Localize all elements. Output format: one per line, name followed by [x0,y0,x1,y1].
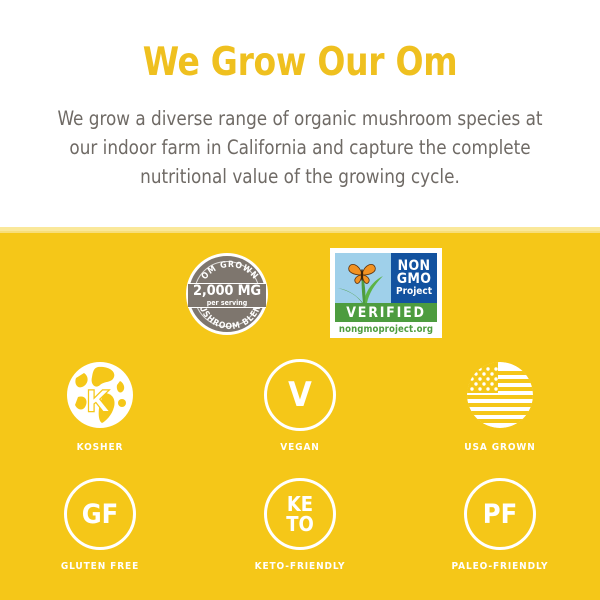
product-benefits-panel: We Grow Our Om We grow a diverse range o… [0,0,600,600]
benefit-label: USA GROWN [464,442,535,453]
butterfly-grass-panel [335,253,391,303]
seal-amount: 2,000 MG [193,284,261,298]
benefit-paleo: PF PALEO-FRIENDLY [400,478,600,572]
benefit-vegan: V VEGAN [200,359,400,453]
paleo-mark: PF [483,501,517,528]
benefit-label: GLUTEN FREE [61,561,139,572]
intro-section: We Grow Our Om We grow a diverse range o… [0,0,600,227]
non-gmo-wordmark: NON GMO Project [391,253,437,303]
non-gmo-verified-badge: NON GMO Project VERIFIED nongmoproject.o… [330,248,442,338]
benefit-row-2: GF GLUTEN FREE KE TO KETO-FRIENDLY [0,478,600,572]
benefit-icon-grid: K KOSHER V VEGAN [0,359,600,572]
non-gmo-line3: Project [396,286,432,297]
svg-text:K: K [87,385,109,418]
seal-row: OM GROWN MUSHROOM BLEND 2,000 MG per ser… [0,245,600,345]
butterfly-icon [347,261,377,285]
badges-section: OM GROWN MUSHROOM BLEND 2,000 MG per ser… [0,233,600,600]
keto-mark: KE TO [286,494,314,534]
usa-flag-icon [464,359,536,431]
seal-center-band: 2,000 MG per serving [188,283,266,308]
svg-text:OM GROWN: OM GROWN [200,260,260,282]
benefit-gluten-free: GF GLUTEN FREE [0,478,200,572]
keto-icon: KE TO [264,478,336,550]
benefit-usa-grown: USA GROWN [400,359,600,453]
non-gmo-url: nongmoproject.org [335,322,437,336]
paleo-icon: PF [464,478,536,550]
benefit-kosher: K KOSHER [0,359,200,453]
gluten-free-mark: GF [82,501,119,528]
non-gmo-line2: GMO [397,273,431,286]
vegan-mark: V [288,378,312,412]
benefit-label: KETO-FRIENDLY [255,561,346,572]
benefit-keto: KE TO KETO-FRIENDLY [200,478,400,572]
benefit-label: PALEO-FRIENDLY [452,561,549,572]
benefit-row-1: K KOSHER V VEGAN [0,359,600,453]
benefit-label: KOSHER [77,442,124,453]
seal-arc-top: OM GROWN [200,260,260,282]
non-gmo-upper: NON GMO Project [335,253,437,303]
page-title: We Grow Our Om [18,40,582,86]
intro-paragraph: We grow a diverse range of organic mushr… [50,104,549,191]
seal-per-serving: per serving [207,299,247,307]
om-grown-seal: OM GROWN MUSHROOM BLEND 2,000 MG per ser… [186,253,268,335]
non-gmo-verified-bar: VERIFIED [335,303,437,322]
gluten-free-icon: GF [64,478,136,550]
globe-k-icon: K [64,359,136,431]
benefit-label: VEGAN [280,442,320,453]
vegan-v-icon: V [264,359,336,431]
